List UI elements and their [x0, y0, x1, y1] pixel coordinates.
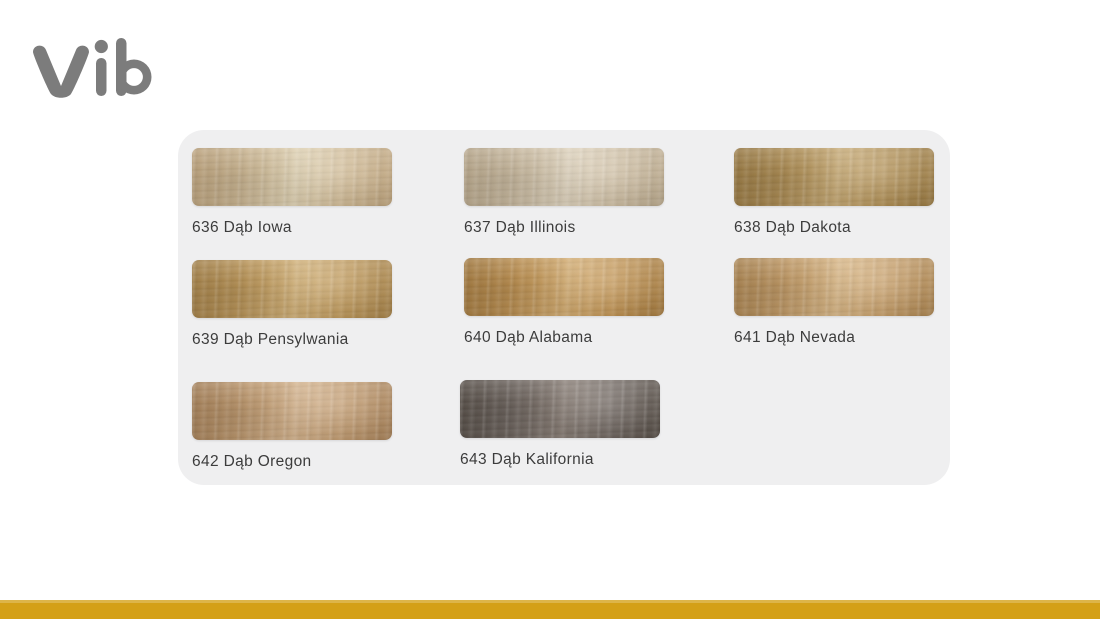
swatch-label-638: 638 Dąb Dakota [734, 219, 934, 237]
wood-grain-overlay [464, 148, 664, 206]
accent-bar-highlight [0, 600, 1100, 603]
wood-swatch-643[interactable] [460, 380, 660, 438]
swatch-panel: 636 Dąb Iowa637 Dąb Illinois638 Dąb Dako… [178, 130, 950, 485]
wood-grain-overlay [192, 260, 392, 318]
swatch-cell[interactable]: 639 Dąb Pensylwania [192, 260, 392, 349]
wood-grain-overlay [464, 258, 664, 316]
wood-grain-overlay [460, 380, 660, 438]
swatch-label-641: 641 Dąb Nevada [734, 329, 934, 347]
wood-swatch-640[interactable] [464, 258, 664, 316]
swatch-label-640: 640 Dąb Alabama [464, 329, 664, 347]
swatch-label-642: 642 Dąb Oregon [192, 453, 392, 471]
wood-grain-overlay [464, 258, 664, 316]
wood-grain-overlay [734, 148, 934, 206]
wood-grain-overlay [464, 258, 664, 316]
wood-swatch-641[interactable] [734, 258, 934, 316]
wood-grain-overlay [192, 148, 392, 206]
swatch-label-639: 639 Dąb Pensylwania [192, 331, 392, 349]
wood-grain-overlay [464, 148, 664, 206]
wood-swatch-642[interactable] [192, 382, 392, 440]
swatch-cell[interactable]: 640 Dąb Alabama [464, 258, 664, 347]
swatch-label-636: 636 Dąb Iowa [192, 219, 392, 237]
swatch-grid: 636 Dąb Iowa637 Dąb Illinois638 Dąb Dako… [178, 130, 950, 485]
wood-grain-overlay [464, 148, 664, 206]
wood-grain-overlay [192, 382, 392, 440]
wood-grain-overlay [734, 148, 934, 206]
wood-grain-overlay [734, 258, 934, 316]
wood-grain-overlay [734, 258, 934, 316]
wood-grain-overlay [192, 148, 392, 206]
swatch-cell[interactable]: 636 Dąb Iowa [192, 148, 392, 237]
wood-swatch-639[interactable] [192, 260, 392, 318]
swatch-label-637: 637 Dąb Illinois [464, 219, 664, 237]
wood-grain-overlay [192, 260, 392, 318]
bottom-accent-bar [0, 600, 1100, 619]
swatch-cell[interactable]: 641 Dąb Nevada [734, 258, 934, 347]
swatch-cell[interactable]: 638 Dąb Dakota [734, 148, 934, 237]
brand-logo [30, 36, 230, 106]
wood-grain-overlay [192, 148, 392, 206]
wood-swatch-637[interactable] [464, 148, 664, 206]
swatch-cell[interactable]: 637 Dąb Illinois [464, 148, 664, 237]
vilo-logo-icon [30, 36, 155, 100]
wood-grain-overlay [192, 260, 392, 318]
wood-swatch-638[interactable] [734, 148, 934, 206]
swatch-cell[interactable]: 642 Dąb Oregon [192, 382, 392, 471]
wood-grain-overlay [460, 380, 660, 438]
swatch-label-643: 643 Dąb Kalifornia [460, 451, 660, 469]
wood-grain-overlay [192, 382, 392, 440]
wood-grain-overlay [734, 148, 934, 206]
wood-grain-overlay [734, 258, 934, 316]
wood-swatch-636[interactable] [192, 148, 392, 206]
swatch-cell[interactable]: 643 Dąb Kalifornia [460, 380, 660, 469]
wood-grain-overlay [460, 380, 660, 438]
wood-grain-overlay [192, 382, 392, 440]
